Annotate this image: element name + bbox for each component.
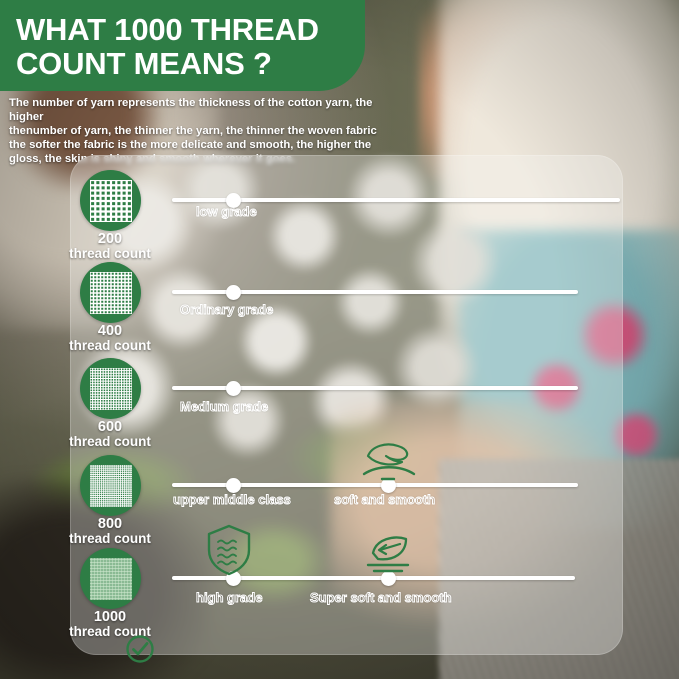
hand-stroking-fabric-icon [360,440,418,486]
infographic-canvas: WHAT 1000 THREAD COUNT MEANS ? The numbe… [0,0,679,679]
thread-count-unit: thread count [69,246,151,261]
thread-count-badge[interactable] [80,455,141,516]
mesh-icon [90,368,132,410]
page-title-line2: COUNT MEANS ? [16,47,356,81]
grade-tag: low grade [196,204,257,219]
thread-count-badge[interactable] [80,358,141,419]
page-title-line1: WHAT 1000 THREAD [16,12,319,47]
thread-count-number: 800 [50,517,170,532]
check-circle-icon-wrap [125,634,155,669]
mesh-icon [90,465,132,507]
hand-stroking-fabric-icon-wrap [360,440,418,491]
scale-marker-dot[interactable] [226,478,241,493]
thread-count-badge[interactable] [80,170,141,231]
thread-count-number: 600 [50,420,170,435]
grade-tag: upper middle class [173,492,291,507]
thread-count-unit: thread count [69,531,151,546]
thread-count-number: 200 [50,232,170,247]
intro-line-1: The number of yarn represents the thickn… [9,96,399,124]
grade-tag: Super soft and smooth [310,590,452,605]
leaf-arrow-icon [360,533,414,577]
intro-line-2: thenumber of yarn, the thinner the yarn,… [9,124,399,138]
shield-waves-icon [206,524,252,576]
thread-count-number: 400 [50,324,170,339]
scale-marker-dot[interactable] [226,285,241,300]
mesh-icon [90,558,132,600]
grade-tag: soft and smooth [334,492,435,507]
thread-count-label: 200thread count [50,232,170,261]
thread-count-badge[interactable] [80,262,141,323]
thread-count-label: 800thread count [50,517,170,546]
thread-count-unit: thread count [69,434,151,449]
grade-tag: Medium grade [180,399,268,414]
check-circle-icon [125,634,155,664]
leaf-arrow-icon-wrap [360,533,414,582]
thread-count-badge[interactable] [80,548,141,609]
page-title: WHAT 1000 THREAD COUNT MEANS ? [16,13,356,81]
grade-tag: Ordinary grade [180,302,273,317]
shield-waves-icon-wrap [206,524,252,581]
mesh-icon [90,272,132,314]
grade-tag: high grade [196,590,262,605]
thread-count-number: 1000 [50,610,170,625]
mesh-icon [90,180,132,222]
scale-marker-dot[interactable] [226,381,241,396]
thread-count-unit: thread count [69,338,151,353]
thread-count-label: 600thread count [50,420,170,449]
intro-line-3: the softer the fabric is the more delica… [9,138,399,152]
thread-count-label: 400thread count [50,324,170,353]
frosted-panel [70,155,623,655]
